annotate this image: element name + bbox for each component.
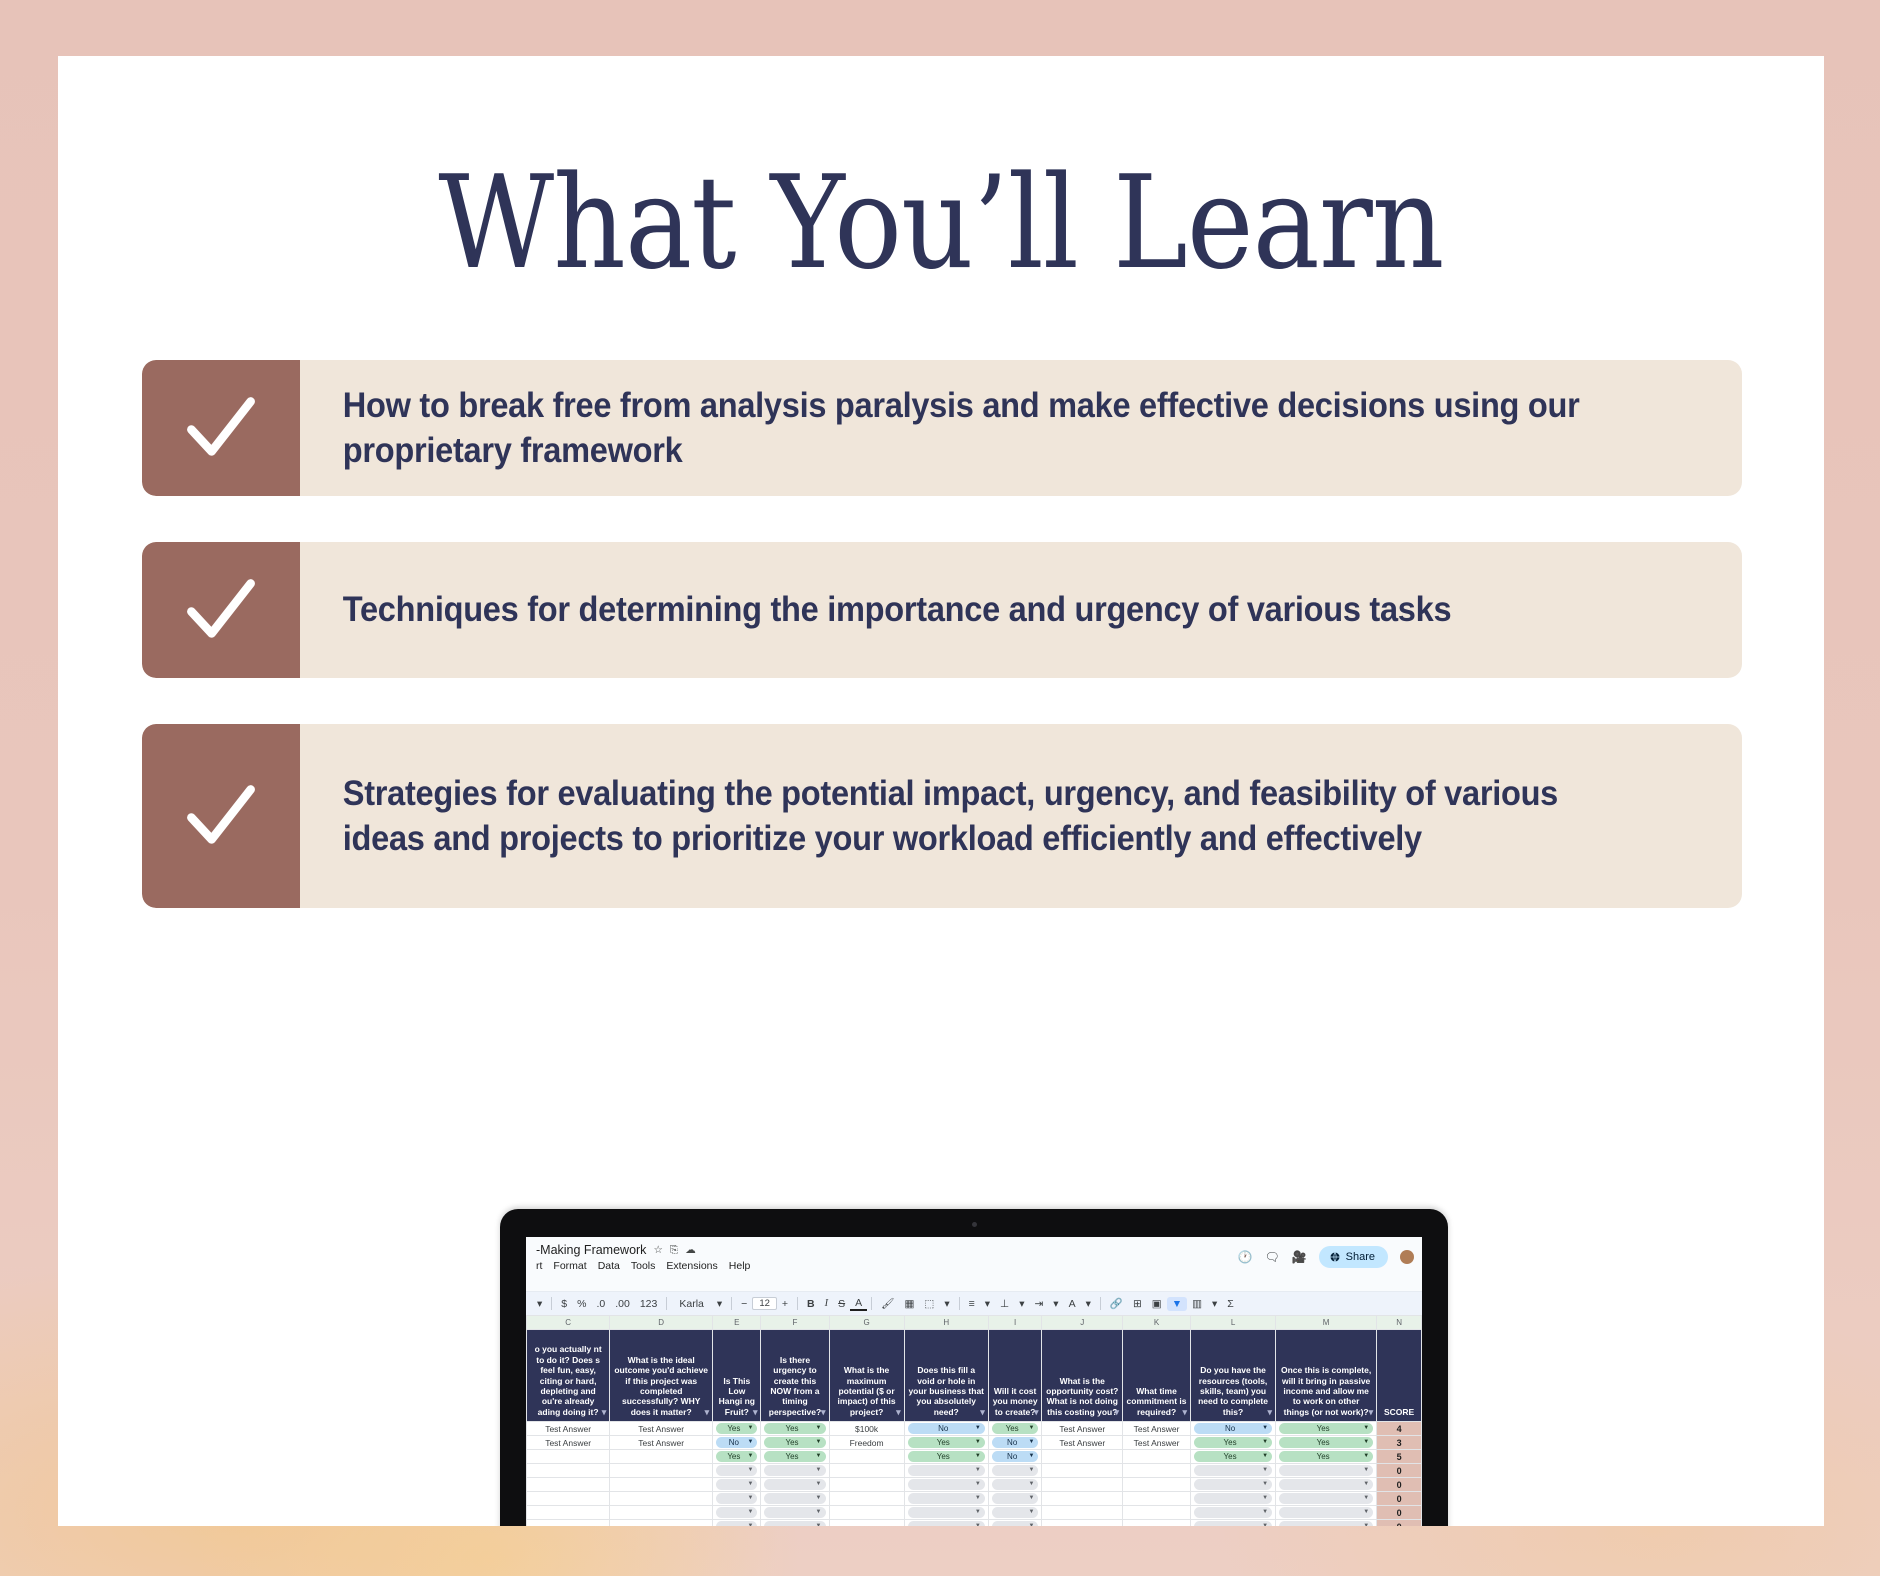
dropdown-pill-empty[interactable]: -▼: [716, 1493, 757, 1504]
table-cell[interactable]: Test Answer: [527, 1422, 610, 1436]
column-header-i[interactable]: I: [988, 1316, 1042, 1330]
table-row[interactable]: -▼-▼-▼-▼-▼-▼0: [527, 1464, 1422, 1478]
merge-cells-icon[interactable]: ⬚: [919, 1298, 939, 1310]
share-button[interactable]: Share: [1319, 1246, 1388, 1268]
dropdown-pill[interactable]: Yes▼: [1279, 1451, 1373, 1462]
table-header-cell: Does this fill a void or hole in your bu…: [904, 1330, 988, 1422]
column-header-c[interactable]: C: [527, 1316, 610, 1330]
dropdown-pill-empty[interactable]: -▼: [764, 1465, 825, 1476]
table-cell[interactable]: Test Answer: [1042, 1436, 1123, 1450]
dropdown-pill-empty[interactable]: -▼: [764, 1479, 825, 1490]
table-cell[interactable]: -▼: [1191, 1464, 1276, 1478]
table-cell[interactable]: [1123, 1450, 1191, 1464]
table-cell[interactable]: -▼: [713, 1478, 761, 1492]
dropdown-pill-empty[interactable]: -▼: [1279, 1493, 1373, 1504]
table-cell[interactable]: -▼: [1276, 1492, 1377, 1506]
column-filter-icon[interactable]: ▾: [896, 1407, 901, 1418]
menu-item-extensions[interactable]: Extensions: [666, 1260, 717, 1272]
wrap-caret-icon[interactable]: ▾: [1048, 1298, 1063, 1310]
column-filter-icon[interactable]: ▾: [1034, 1407, 1039, 1418]
table-cell[interactable]: Yes▼: [761, 1422, 829, 1436]
text-rotation-icon[interactable]: A: [1064, 1298, 1081, 1310]
table-cell[interactable]: [1123, 1464, 1191, 1478]
table-cell[interactable]: -▼: [904, 1464, 988, 1478]
menu-item-insert[interactable]: rt: [536, 1260, 542, 1272]
column-header-n[interactable]: N: [1377, 1316, 1422, 1330]
table-cell[interactable]: -▼: [1191, 1492, 1276, 1506]
table-cell[interactable]: -▼: [1191, 1506, 1276, 1520]
check-icon-box: [142, 724, 300, 908]
dropdown-pill-empty[interactable]: -▼: [992, 1507, 1039, 1518]
table-cell[interactable]: -▼: [988, 1492, 1042, 1506]
table-cell[interactable]: [829, 1450, 904, 1464]
table-cell[interactable]: -▼: [761, 1492, 829, 1506]
table-cell[interactable]: [829, 1464, 904, 1478]
fill-color-icon[interactable]: 🖌: [876, 1297, 899, 1310]
column-filter-icon[interactable]: ▾: [821, 1407, 826, 1418]
table-row[interactable]: -▼-▼-▼-▼-▼-▼0: [527, 1506, 1422, 1520]
text-color-button[interactable]: A: [850, 1297, 867, 1311]
table-cell[interactable]: No▼: [713, 1436, 761, 1450]
column-filter-icon[interactable]: ▾: [1115, 1407, 1120, 1418]
bold-button[interactable]: B: [802, 1298, 820, 1310]
sheets-toolbar: ▾ $ % .0 .00 123 Karla ▾ − 12 + B I S A: [526, 1291, 1422, 1315]
table-row[interactable]: Yes▼Yes▼Yes▼No▼Yes▼Yes▼5: [527, 1450, 1422, 1464]
toolbar-divider: [731, 1297, 732, 1310]
table-cell[interactable]: Test Answer: [527, 1436, 610, 1450]
column-header-k[interactable]: K: [1123, 1316, 1191, 1330]
column-filter-icon[interactable]: ▾: [602, 1407, 607, 1418]
table-cell[interactable]: Yes▼: [1191, 1450, 1276, 1464]
table-cell[interactable]: Yes▼: [904, 1450, 988, 1464]
dropdown-pill-empty[interactable]: -▼: [764, 1507, 825, 1518]
dropdown-pill-empty[interactable]: -▼: [1279, 1507, 1373, 1518]
dropdown-pill[interactable]: No▼: [908, 1423, 985, 1434]
column-filter-icon[interactable]: ▾: [1369, 1407, 1374, 1418]
filter-views-icon[interactable]: ▥: [1187, 1298, 1207, 1310]
table-cell[interactable]: [829, 1520, 904, 1527]
toolbar-divider: [959, 1297, 960, 1310]
dropdown-pill-empty[interactable]: -▼: [992, 1493, 1039, 1504]
table-cell[interactable]: No▼: [988, 1450, 1042, 1464]
dropdown-pill[interactable]: No▼: [992, 1437, 1039, 1448]
strikethrough-button[interactable]: S: [833, 1298, 850, 1310]
table-cell[interactable]: No▼: [988, 1436, 1042, 1450]
avatar[interactable]: [1400, 1250, 1414, 1264]
table-cell[interactable]: -▼: [988, 1464, 1042, 1478]
currency-format-button[interactable]: $: [556, 1298, 572, 1310]
checklist-item-text: How to break free from analysis paralysi…: [300, 360, 1641, 496]
table-cell[interactable]: [829, 1506, 904, 1520]
score-cell[interactable]: 4: [1377, 1422, 1422, 1436]
dropdown-pill-empty[interactable]: -▼: [1194, 1493, 1272, 1504]
dropdown-pill-empty[interactable]: -▼: [716, 1465, 757, 1476]
comment-icon[interactable]: 🗨: [1264, 1250, 1279, 1264]
table-header-cell: What is the opportunity cost? What is no…: [1042, 1330, 1123, 1422]
dropdown-pill-empty[interactable]: -▼: [992, 1521, 1039, 1526]
borders-icon[interactable]: ▦: [900, 1298, 920, 1310]
dropdown-pill-empty[interactable]: -▼: [992, 1465, 1039, 1476]
table-row[interactable]: -▼-▼-▼-▼-▼-▼0: [527, 1478, 1422, 1492]
table-header-cell: Is This Low Hangi ng Fruit?▾: [713, 1330, 761, 1422]
check-icon: [182, 777, 260, 855]
toolbar-divider: [871, 1297, 872, 1310]
dropdown-pill-empty[interactable]: -▼: [992, 1479, 1039, 1490]
filter-views-caret-icon[interactable]: ▾: [1207, 1298, 1222, 1310]
table-header-row: o you actually nt to do it? Does s feel …: [527, 1330, 1422, 1422]
table-cell[interactable]: [527, 1492, 610, 1506]
dropdown-pill[interactable]: Yes▼: [992, 1423, 1039, 1434]
menu-item-help[interactable]: Help: [729, 1260, 751, 1272]
dropdown-pill-empty[interactable]: -▼: [908, 1479, 985, 1490]
checklist-item: How to break free from analysis paralysi…: [142, 360, 1742, 496]
table-cell[interactable]: No▼: [1191, 1422, 1276, 1436]
dropdown-pill-empty[interactable]: -▼: [908, 1507, 985, 1518]
version-history-icon[interactable]: 🕐: [1238, 1250, 1253, 1264]
insert-chart-icon[interactable]: ▣: [1147, 1298, 1167, 1310]
column-header-h[interactable]: H: [904, 1316, 988, 1330]
checklist-item-text: Strategies for evaluating the potential …: [300, 724, 1641, 908]
score-cell[interactable]: 0: [1377, 1478, 1422, 1492]
table-header-cell: What is the maximum potential ($ or impa…: [829, 1330, 904, 1422]
table-cell[interactable]: Test Answer: [1123, 1422, 1191, 1436]
table-cell[interactable]: Yes▼: [1276, 1450, 1377, 1464]
menu-item-format[interactable]: Format: [553, 1260, 586, 1272]
table-cell[interactable]: [610, 1464, 713, 1478]
table-cell[interactable]: -▼: [988, 1478, 1042, 1492]
table-cell[interactable]: [610, 1478, 713, 1492]
dropdown-pill[interactable]: No▼: [992, 1451, 1039, 1462]
cloud-saved-icon[interactable]: ☁: [685, 1245, 696, 1256]
dropdown-pill[interactable]: Yes▼: [764, 1423, 825, 1434]
score-cell[interactable]: 0: [1377, 1506, 1422, 1520]
insert-comment-icon[interactable]: ⊞: [1128, 1298, 1147, 1310]
checklist-item: Techniques for determining the importanc…: [142, 542, 1742, 678]
table-row[interactable]: -▼-▼-▼-▼-▼-▼0: [527, 1492, 1422, 1506]
table-cell[interactable]: [527, 1520, 610, 1527]
dropdown-pill-empty[interactable]: -▼: [764, 1493, 825, 1504]
table-cell[interactable]: [1123, 1520, 1191, 1527]
halign-caret-icon[interactable]: ▾: [980, 1298, 995, 1310]
dropdown-pill-empty[interactable]: -▼: [908, 1465, 985, 1476]
decrease-decimal-button[interactable]: .0: [591, 1298, 610, 1310]
checklist: How to break free from analysis paralysi…: [142, 360, 1742, 908]
table-cell[interactable]: [1123, 1492, 1191, 1506]
table-cell[interactable]: $100k: [829, 1422, 904, 1436]
toolbar-divider: [1100, 1297, 1101, 1310]
table-cell[interactable]: [1042, 1492, 1123, 1506]
dropdown-pill[interactable]: Yes▼: [1279, 1437, 1373, 1448]
table-cell[interactable]: [829, 1478, 904, 1492]
dropdown-pill[interactable]: No▼: [716, 1437, 757, 1448]
number-format-button[interactable]: 123: [635, 1298, 663, 1310]
score-cell[interactable]: 5: [1377, 1450, 1422, 1464]
table-cell[interactable]: [1042, 1506, 1123, 1520]
table-cell[interactable]: -▼: [1191, 1520, 1276, 1527]
dropdown-pill-empty[interactable]: -▼: [1279, 1521, 1373, 1526]
sheets-header: -Making Framework ☆ ⎘ ☁ rt Format Data T…: [526, 1237, 1422, 1291]
italic-button[interactable]: I: [820, 1298, 834, 1309]
score-cell[interactable]: 0: [1377, 1464, 1422, 1478]
table-cell[interactable]: Freedom: [829, 1436, 904, 1450]
score-cell[interactable]: 0: [1377, 1492, 1422, 1506]
table-cell[interactable]: -▼: [761, 1506, 829, 1520]
table-cell[interactable]: Yes▼: [761, 1436, 829, 1450]
check-icon: [182, 571, 260, 649]
dropdown-pill-empty[interactable]: -▼: [716, 1479, 757, 1490]
table-cell[interactable]: [1042, 1464, 1123, 1478]
table-cell[interactable]: [610, 1520, 713, 1527]
table-cell[interactable]: [829, 1492, 904, 1506]
table-header-cell: o you actually nt to do it? Does s feel …: [527, 1330, 610, 1422]
table-cell[interactable]: Yes▼: [904, 1436, 988, 1450]
checklist-item: Strategies for evaluating the potential …: [142, 724, 1742, 908]
dropdown-pill[interactable]: Yes▼: [716, 1423, 757, 1434]
laptop-mockup: -Making Framework ☆ ⎘ ☁ rt Format Data T…: [500, 1209, 1448, 1526]
dropdown-pill[interactable]: Yes▼: [1194, 1437, 1272, 1448]
table-cell[interactable]: Yes▼: [1276, 1436, 1377, 1450]
table-header-cell: Once this is complete, will it bring in …: [1276, 1330, 1377, 1422]
column-header-d[interactable]: D: [610, 1316, 713, 1330]
rotation-caret-icon[interactable]: ▾: [1081, 1298, 1096, 1310]
table-cell[interactable]: [1042, 1450, 1123, 1464]
table-cell[interactable]: [1042, 1478, 1123, 1492]
meet-icon[interactable]: 🎥: [1292, 1250, 1307, 1264]
font-size-input[interactable]: 12: [752, 1297, 777, 1310]
document-title[interactable]: -Making Framework: [536, 1243, 646, 1257]
column-filter-icon[interactable]: ▾: [980, 1407, 985, 1418]
page-title: What You’ll Learn: [164, 160, 1718, 288]
move-folder-icon[interactable]: ⎘: [670, 1245, 678, 1256]
table-cell[interactable]: -▼: [761, 1520, 829, 1527]
laptop-camera: [972, 1222, 977, 1227]
score-cell[interactable]: 0: [1377, 1520, 1422, 1527]
more-formats-caret-icon[interactable]: ▾: [532, 1298, 547, 1310]
dropdown-pill[interactable]: Yes▼: [1194, 1451, 1272, 1462]
table-cell[interactable]: Yes▼: [761, 1450, 829, 1464]
table-header-cell: What time commitment is required?▾: [1123, 1330, 1191, 1422]
table-cell[interactable]: -▼: [713, 1492, 761, 1506]
dropdown-pill[interactable]: Yes▼: [764, 1437, 825, 1448]
content-card: What You’ll Learn How to break free from…: [58, 56, 1824, 1526]
share-label: Share: [1346, 1251, 1375, 1263]
dropdown-pill-empty[interactable]: -▼: [1194, 1521, 1272, 1526]
header-actions: 🕐 🗨 🎥 Share: [1238, 1246, 1415, 1268]
table-header-cell: Do you have the resources (tools, skills…: [1191, 1330, 1276, 1422]
table-cell[interactable]: -▼: [1276, 1506, 1377, 1520]
table-cell[interactable]: [1042, 1520, 1123, 1527]
table-cell[interactable]: -▼: [1276, 1520, 1377, 1527]
menu-item-tools[interactable]: Tools: [631, 1260, 656, 1272]
increase-font-size-button[interactable]: +: [777, 1298, 793, 1310]
dropdown-pill-empty[interactable]: -▼: [1194, 1479, 1272, 1490]
dropdown-pill[interactable]: Yes▼: [908, 1451, 985, 1462]
table-cell[interactable]: [527, 1450, 610, 1464]
table-cell[interactable]: -▼: [904, 1506, 988, 1520]
text-wrap-icon[interactable]: ⇥: [1029, 1298, 1048, 1310]
table-cell[interactable]: -▼: [904, 1478, 988, 1492]
merge-caret-icon[interactable]: ▾: [939, 1298, 954, 1310]
column-filter-icon[interactable]: ▾: [1183, 1407, 1188, 1418]
dropdown-pill-empty[interactable]: -▼: [1194, 1507, 1272, 1518]
table-header-cell: Will it cost you money to create?▾: [988, 1330, 1042, 1422]
dropdown-pill-empty[interactable]: -▼: [1279, 1479, 1373, 1490]
table-cell[interactable]: [527, 1464, 610, 1478]
column-header-e[interactable]: E: [713, 1316, 761, 1330]
table-cell[interactable]: Yes▼: [713, 1450, 761, 1464]
table-cell[interactable]: -▼: [713, 1464, 761, 1478]
font-family-select[interactable]: Karla: [671, 1298, 712, 1310]
spreadsheet-grid: CDEFGHIJKLMNo you actually nt to do it? …: [526, 1315, 1422, 1526]
filter-icon[interactable]: ▼: [1167, 1297, 1187, 1311]
column-header-g[interactable]: G: [829, 1316, 904, 1330]
dropdown-pill-empty[interactable]: -▼: [1279, 1465, 1373, 1476]
valign-caret-icon[interactable]: ▾: [1014, 1298, 1029, 1310]
vertical-align-icon[interactable]: ⊥: [995, 1298, 1014, 1310]
dropdown-pill[interactable]: No▼: [1194, 1423, 1272, 1434]
table-cell[interactable]: Test Answer: [1042, 1422, 1123, 1436]
column-header-l[interactable]: L: [1191, 1316, 1276, 1330]
table-header-cell: What is the ideal outcome you'd achieve …: [610, 1330, 713, 1422]
check-icon-box: [142, 542, 300, 678]
link-icon[interactable]: 🔗: [1105, 1297, 1128, 1310]
dropdown-pill-empty[interactable]: -▼: [764, 1521, 825, 1526]
menu-item-data[interactable]: Data: [598, 1260, 620, 1272]
table-cell[interactable]: Yes▼: [988, 1422, 1042, 1436]
font-family-caret-icon[interactable]: ▾: [712, 1298, 727, 1310]
column-header-f[interactable]: F: [761, 1316, 829, 1330]
dropdown-pill[interactable]: Yes▼: [1279, 1423, 1373, 1434]
table-cell[interactable]: -▼: [1276, 1478, 1377, 1492]
column-filter-icon[interactable]: ▾: [753, 1407, 758, 1418]
table-cell[interactable]: -▼: [713, 1506, 761, 1520]
table-cell[interactable]: Yes▼: [1191, 1436, 1276, 1450]
table-cell[interactable]: -▼: [988, 1506, 1042, 1520]
table-cell[interactable]: -▼: [761, 1478, 829, 1492]
check-icon-box: [142, 360, 300, 496]
table-header-cell: SCORE: [1377, 1330, 1422, 1422]
table-cell[interactable]: Yes▼: [713, 1422, 761, 1436]
check-icon: [182, 389, 260, 467]
dropdown-pill-empty[interactable]: -▼: [908, 1493, 985, 1504]
dropdown-pill-empty[interactable]: -▼: [908, 1521, 985, 1526]
table-cell[interactable]: No▼: [904, 1422, 988, 1436]
column-filter-icon[interactable]: ▾: [705, 1407, 710, 1418]
table-row[interactable]: Test AnswerTest AnswerNo▼Yes▼FreedomYes▼…: [527, 1436, 1422, 1450]
table-cell[interactable]: -▼: [1191, 1478, 1276, 1492]
spreadsheet-grid-container[interactable]: CDEFGHIJKLMNo you actually nt to do it? …: [526, 1315, 1422, 1526]
table-cell[interactable]: [610, 1506, 713, 1520]
table-cell[interactable]: -▼: [1276, 1464, 1377, 1478]
table-cell[interactable]: Test Answer: [610, 1422, 713, 1436]
table-cell[interactable]: [610, 1450, 713, 1464]
horizontal-align-icon[interactable]: ≡: [964, 1298, 980, 1310]
table-cell[interactable]: Test Answer: [610, 1436, 713, 1450]
table-row[interactable]: -▼-▼-▼-▼-▼-▼0: [527, 1520, 1422, 1527]
table-cell[interactable]: -▼: [988, 1520, 1042, 1527]
dropdown-pill-empty[interactable]: -▼: [716, 1507, 757, 1518]
dropdown-pill-empty[interactable]: -▼: [1194, 1465, 1272, 1476]
lock-globe-icon: [1329, 1251, 1341, 1263]
percent-format-button[interactable]: %: [572, 1298, 591, 1310]
column-letter-row: CDEFGHIJKLMN: [527, 1316, 1422, 1330]
table-cell[interactable]: [610, 1492, 713, 1506]
dropdown-pill[interactable]: Yes▼: [908, 1437, 985, 1448]
dropdown-pill[interactable]: Yes▼: [716, 1451, 757, 1462]
column-filter-icon[interactable]: ▾: [1268, 1407, 1273, 1418]
dropdown-pill-empty[interactable]: -▼: [716, 1521, 757, 1526]
score-cell[interactable]: 3: [1377, 1436, 1422, 1450]
table-cell[interactable]: -▼: [904, 1492, 988, 1506]
table-cell[interactable]: -▼: [713, 1520, 761, 1527]
toolbar-divider: [666, 1297, 667, 1310]
table-row[interactable]: Test AnswerTest AnswerYes▼Yes▼$100kNo▼Ye…: [527, 1422, 1422, 1436]
table-cell[interactable]: Yes▼: [1276, 1422, 1377, 1436]
table-cell[interactable]: -▼: [761, 1464, 829, 1478]
decrease-font-size-button[interactable]: −: [736, 1298, 752, 1310]
table-cell[interactable]: [1123, 1478, 1191, 1492]
toolbar-divider: [797, 1297, 798, 1310]
table-cell[interactable]: -▼: [904, 1520, 988, 1527]
toolbar-divider: [551, 1297, 552, 1310]
table-cell[interactable]: [1123, 1506, 1191, 1520]
dropdown-pill[interactable]: Yes▼: [764, 1451, 825, 1462]
table-header-cell: Is there urgency to create this NOW from…: [761, 1330, 829, 1422]
star-icon[interactable]: ☆: [653, 1245, 662, 1256]
functions-button[interactable]: Σ: [1222, 1298, 1239, 1310]
table-cell[interactable]: [527, 1478, 610, 1492]
increase-decimal-button[interactable]: .00: [610, 1298, 635, 1310]
table-cell[interactable]: [527, 1506, 610, 1520]
spreadsheet-app: -Making Framework ☆ ⎘ ☁ rt Format Data T…: [526, 1237, 1422, 1526]
column-header-m[interactable]: M: [1276, 1316, 1377, 1330]
checklist-item-text: Techniques for determining the importanc…: [300, 542, 1641, 678]
column-header-j[interactable]: J: [1042, 1316, 1123, 1330]
table-cell[interactable]: Test Answer: [1123, 1436, 1191, 1450]
